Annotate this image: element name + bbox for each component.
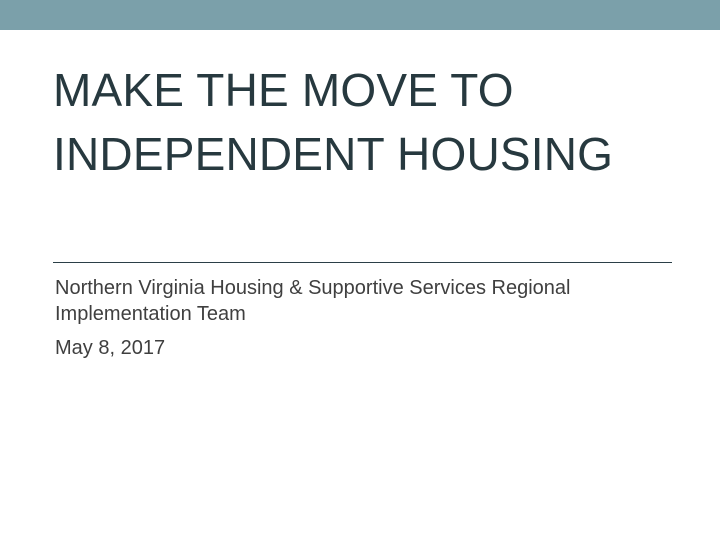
- title-placeholder[interactable]: Make the Move to Independent Housing: [53, 58, 673, 186]
- subtitle-placeholder[interactable]: Northern Virginia Housing & Supportive S…: [55, 275, 655, 361]
- page-title: Make the Move to Independent Housing: [53, 58, 673, 186]
- subtitle-organization: Northern Virginia Housing & Supportive S…: [55, 275, 655, 327]
- title-slide: Make the Move to Independent Housing Nor…: [0, 0, 720, 540]
- title-divider-rule: [53, 262, 672, 263]
- slide-content-area: Make the Move to Independent Housing Nor…: [0, 30, 720, 540]
- subtitle-date: May 8, 2017: [55, 335, 655, 361]
- top-accent-band: [0, 0, 720, 30]
